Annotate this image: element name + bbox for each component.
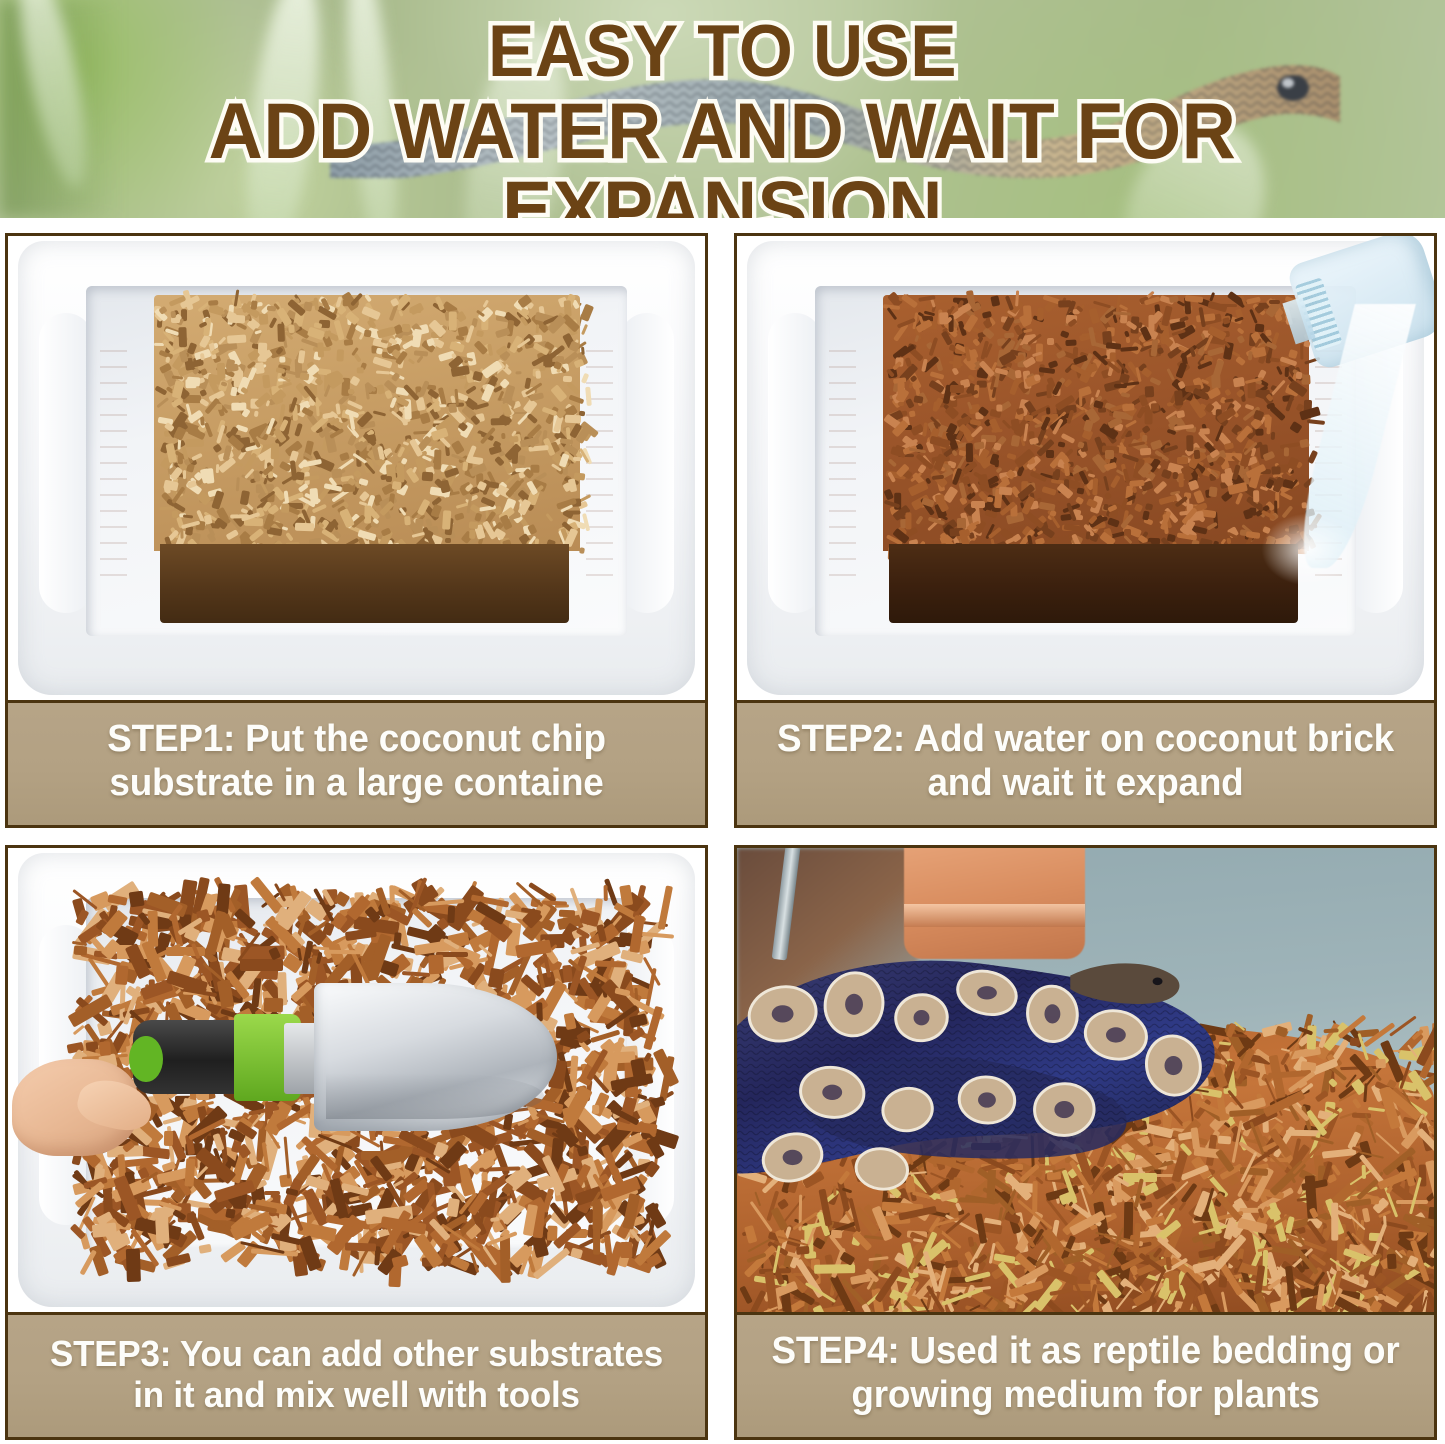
garden-trowel bbox=[133, 980, 552, 1135]
steps-grid: STEP1: Put the coconut chip substrate in… bbox=[5, 233, 1440, 1440]
step4-caption: STEP4: Used it as reptile bedding or gro… bbox=[737, 1312, 1434, 1437]
step4-photo bbox=[737, 848, 1434, 1312]
title-line-2: ADD WATER AND WAIT FOR EXPANSION bbox=[36, 92, 1409, 218]
step3-caption: STEP3: You can add other substrates in i… bbox=[8, 1312, 705, 1437]
brick-front-face bbox=[160, 544, 569, 623]
ball-python bbox=[737, 922, 1253, 1228]
white-tray bbox=[18, 241, 694, 696]
title-line-1: EASY TO USE bbox=[36, 16, 1409, 88]
step2-photo bbox=[737, 236, 1434, 700]
white-tray bbox=[18, 853, 694, 1308]
step-card-2: STEP2: Add water on coconut brick and wa… bbox=[734, 233, 1437, 828]
step-card-3: STEP3: You can add other substrates in i… bbox=[5, 845, 708, 1440]
coconut-chips bbox=[883, 295, 1309, 550]
step1-caption-text: STEP1: Put the coconut chip substrate in… bbox=[32, 718, 681, 805]
page-title: EASY TO USE ADD WATER AND WAIT FOR EXPAN… bbox=[36, 16, 1409, 218]
coconut-chips bbox=[154, 295, 580, 550]
infographic-page: EASY TO USE ADD WATER AND WAIT FOR EXPAN… bbox=[0, 0, 1445, 1444]
water-splash bbox=[1261, 513, 1356, 586]
step3-caption-text: STEP3: You can add other substrates in i… bbox=[32, 1333, 681, 1416]
coconut-brick-dry bbox=[154, 295, 580, 622]
step-card-1: STEP1: Put the coconut chip substrate in… bbox=[5, 233, 708, 828]
header-banner: EASY TO USE ADD WATER AND WAIT FOR EXPAN… bbox=[0, 0, 1445, 218]
step-card-4: STEP4: Used it as reptile bedding or gro… bbox=[734, 845, 1437, 1440]
tray-rim-left bbox=[768, 313, 822, 613]
step2-caption: STEP2: Add water on coconut brick and wa… bbox=[737, 700, 1434, 825]
step3-photo bbox=[8, 848, 705, 1312]
brick-top-surface bbox=[883, 295, 1309, 550]
step1-caption: STEP1: Put the coconut chip substrate in… bbox=[8, 700, 705, 825]
step4-caption-text: STEP4: Used it as reptile bedding or gro… bbox=[761, 1330, 1410, 1417]
trowel-handle-loop bbox=[129, 1036, 163, 1082]
white-tray bbox=[747, 241, 1423, 696]
step1-photo bbox=[8, 236, 705, 700]
tray-rim-left bbox=[39, 313, 93, 613]
coconut-brick-wet bbox=[883, 295, 1309, 622]
brick-front-face bbox=[889, 544, 1298, 623]
tray-measure-marks bbox=[829, 350, 856, 577]
tray-measure-marks bbox=[100, 350, 127, 577]
brick-top-surface bbox=[154, 295, 580, 550]
trowel-blade-edge bbox=[326, 1073, 544, 1119]
step2-caption-text: STEP2: Add water on coconut brick and wa… bbox=[761, 718, 1410, 805]
tray-rim-right bbox=[620, 313, 674, 613]
